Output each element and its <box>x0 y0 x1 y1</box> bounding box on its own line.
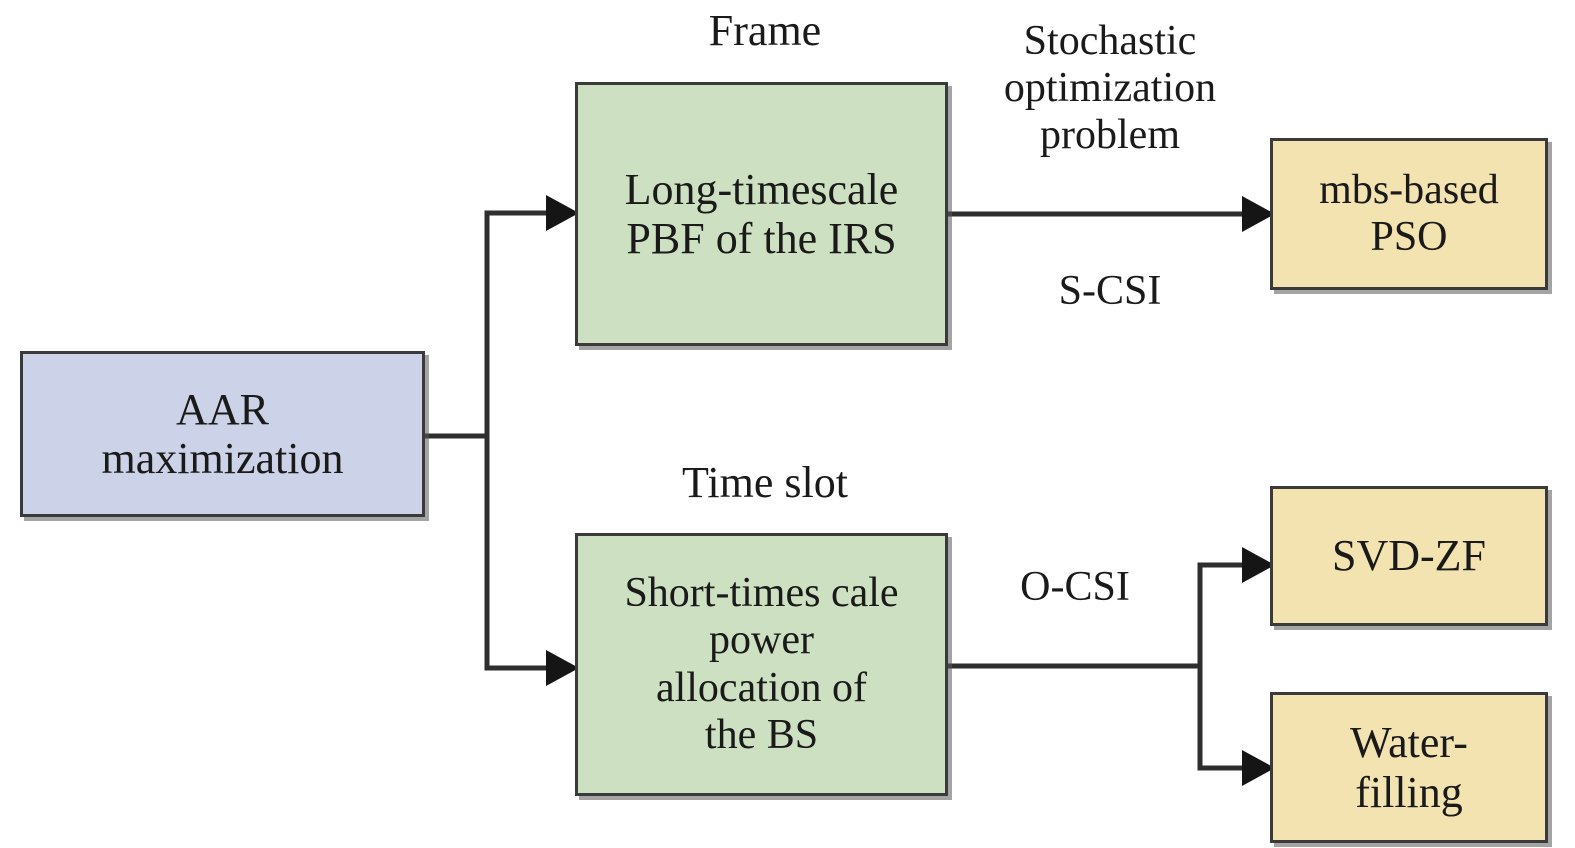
wire-branch-down <box>1200 666 1242 768</box>
wire-split-up <box>487 213 546 436</box>
caption-s-csi: S-CSI <box>960 268 1260 315</box>
node-mbs-based-pso-label: mbs-based PSO <box>1281 167 1537 261</box>
node-mbs-based-pso[interactable]: mbs-based PSO <box>1270 138 1548 290</box>
node-long-timescale-pbf[interactable]: Long-timescale PBF of the IRS <box>575 82 948 346</box>
node-svd-zf[interactable]: SVD-ZF <box>1270 486 1548 626</box>
caption-frame: Frame <box>640 6 890 55</box>
node-svd-zf-label: SVD-ZF <box>1281 531 1537 580</box>
wire-split-down <box>487 436 546 668</box>
node-aar-maximization-label: AAR maximization <box>31 385 414 484</box>
node-long-timescale-pbf-label: Long-timescale PBF of the IRS <box>586 165 937 264</box>
node-short-timescale-power-allocation-label: Short-times cale power allocation of the… <box>586 570 937 758</box>
node-water-filling[interactable]: Water- filling <box>1270 692 1548 843</box>
wire-branch-up <box>1200 565 1242 666</box>
caption-time-slot: Time slot <box>640 458 890 507</box>
caption-stochastic-optimization-problem: Stochastic optimization problem <box>960 18 1260 159</box>
node-short-timescale-power-allocation[interactable]: Short-times cale power allocation of the… <box>575 533 948 796</box>
caption-o-csi: O-CSI <box>960 564 1190 611</box>
diagram-canvas: AAR maximization Long-timescale PBF of t… <box>0 0 1575 848</box>
node-aar-maximization[interactable]: AAR maximization <box>20 351 425 517</box>
node-water-filling-label: Water- filling <box>1281 718 1537 817</box>
